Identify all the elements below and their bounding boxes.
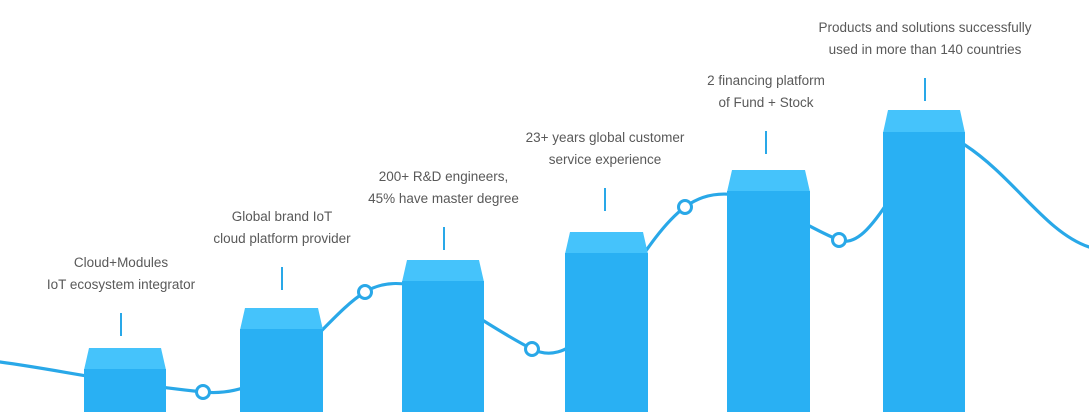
milestone-label-5-line-1: 2 financing platform	[671, 70, 861, 92]
milestone-label-4-line-1: 23+ years global customer	[505, 127, 705, 149]
milestone-label-2-line-2: cloud platform provider	[185, 228, 379, 250]
milestone-tick-2	[281, 267, 283, 290]
milestone-label-6-line-1: Products and solutions successfully	[800, 17, 1050, 39]
milestone-label-4: 23+ years global customer service experi…	[505, 127, 705, 171]
labels-layer: Cloud+Modules IoT ecosystem integrator G…	[0, 0, 1089, 412]
milestone-label-1: Cloud+Modules IoT ecosystem integrator	[25, 252, 217, 296]
milestone-label-5-line-2: of Fund + Stock	[671, 92, 861, 114]
milestone-label-3-line-2: 45% have master degree	[346, 188, 541, 210]
milestone-label-1-line-1: Cloud+Modules	[25, 252, 217, 274]
milestone-label-5: 2 financing platform of Fund + Stock	[671, 70, 861, 114]
milestone-tick-6	[924, 78, 926, 101]
milestone-tick-5	[765, 131, 767, 154]
milestone-label-2: Global brand IoT cloud platform provider	[185, 206, 379, 250]
milestone-label-3: 200+ R&D engineers, 45% have master degr…	[346, 166, 541, 210]
milestone-label-6-line-2: used in more than 140 countries	[800, 39, 1050, 61]
growth-milestones-infographic: Cloud+Modules IoT ecosystem integrator G…	[0, 0, 1089, 412]
milestone-label-1-line-2: IoT ecosystem integrator	[25, 274, 217, 296]
milestone-label-4-line-2: service experience	[505, 149, 705, 171]
milestone-tick-4	[604, 188, 606, 211]
milestone-tick-3	[443, 227, 445, 250]
milestone-tick-1	[120, 313, 122, 336]
milestone-label-6: Products and solutions successfully used…	[800, 17, 1050, 61]
